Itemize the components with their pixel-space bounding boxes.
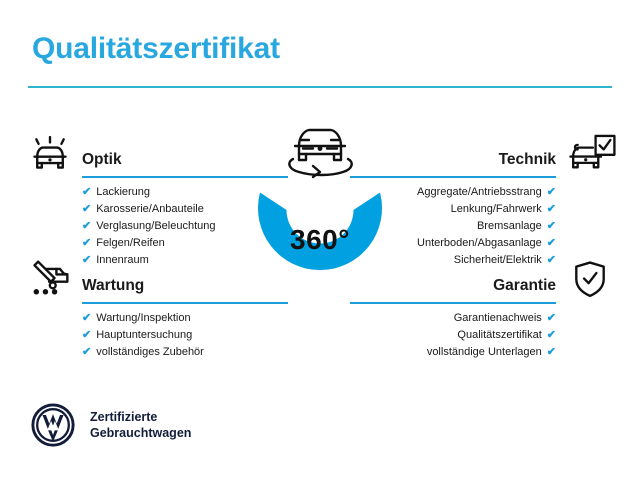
check-icon: ✔ [82, 201, 91, 218]
footer-line-1: Zertifizierte [90, 409, 191, 425]
check-icon: ✔ [82, 235, 91, 252]
list-item-label: vollständige Unterlagen [427, 344, 542, 361]
check-icon: ✔ [547, 218, 556, 235]
car-checkbox-icon [566, 132, 614, 174]
section-technik-title: Technik [499, 151, 556, 169]
list-item-label: Aggregate/Antriebsstrang [417, 184, 542, 201]
footer-brand: Zertifizierte Gebrauchtwagen [30, 402, 191, 448]
car-shine-icon [26, 132, 74, 174]
list-item-label: Unterboden/Abgasanlage [417, 235, 542, 252]
header-divider [28, 86, 612, 88]
section-optik-title: Optik [82, 151, 122, 169]
list-item-label: vollständiges Zubehör [96, 344, 204, 361]
list-item-label: Garantienachweis [454, 310, 542, 327]
check-icon: ✔ [547, 184, 556, 201]
check-icon: ✔ [547, 310, 556, 327]
volkswagen-logo [30, 402, 76, 448]
list-item-label: Felgen/Reifen [96, 235, 165, 252]
page-title: Qualitätszertifikat [32, 32, 280, 66]
check-icon: ✔ [547, 201, 556, 218]
list-item-label: Wartung/Inspektion [96, 310, 190, 327]
360-check-badge: Gebrauchtwagen-Check 360° [227, 118, 413, 318]
list-item-label: Bremsanlage [477, 218, 542, 235]
section-garantie-title: Garantie [493, 277, 556, 295]
car-front-rotate-icon [279, 118, 361, 180]
check-icon: ✔ [547, 344, 556, 361]
car-wrench-icon [26, 258, 74, 300]
list-item-label: Lackierung [96, 184, 150, 201]
list-item: ✔vollständiges Zubehör [26, 344, 288, 361]
check-icon: ✔ [82, 344, 91, 361]
shield-check-icon [566, 258, 614, 300]
footer-line-2: Gebrauchtwagen [90, 425, 191, 441]
check-icon: ✔ [82, 327, 91, 344]
badge-center-label: 360° [227, 224, 413, 256]
check-icon: ✔ [82, 218, 91, 235]
list-item-label: Karosserie/Anbauteile [96, 201, 204, 218]
footer-text: Zertifizierte Gebrauchtwagen [90, 409, 191, 441]
list-item-label: Lenkung/Fahrwerk [451, 201, 542, 218]
check-icon: ✔ [547, 327, 556, 344]
check-icon: ✔ [547, 235, 556, 252]
check-icon: ✔ [82, 184, 91, 201]
section-wartung-title: Wartung [82, 277, 144, 295]
list-item-label: Hauptuntersuchung [96, 327, 192, 344]
list-item: Qualitätszertifikat✔ [352, 327, 614, 344]
quality-certificate-page: Qualitätszertifikat [0, 0, 640, 480]
check-icon: ✔ [82, 310, 91, 327]
list-item: ✔Hauptuntersuchung [26, 327, 288, 344]
list-item-label: Verglasung/Beleuchtung [96, 218, 215, 235]
list-item: vollständige Unterlagen✔ [352, 344, 614, 361]
list-item-label: Qualitätszertifikat [457, 327, 541, 344]
